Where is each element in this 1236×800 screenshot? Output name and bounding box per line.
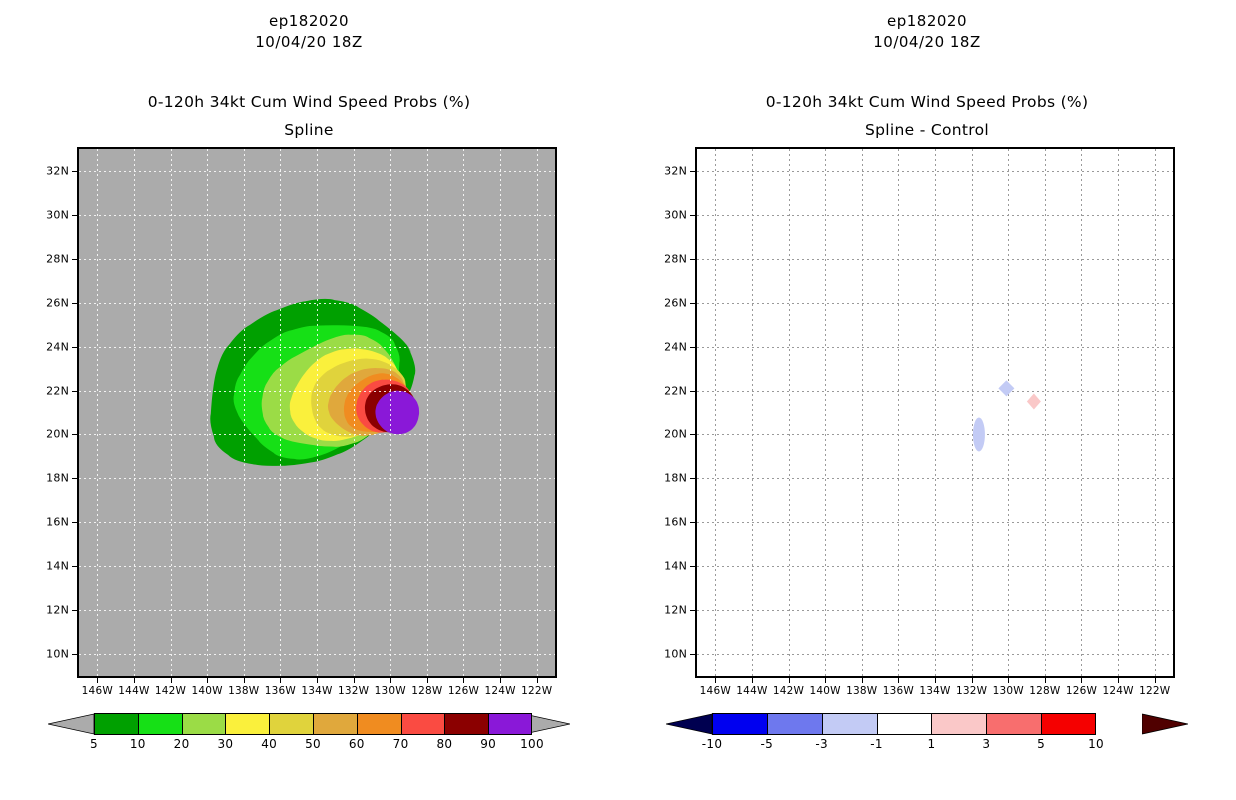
colorbar-under-arrow-right (666, 713, 712, 735)
colorbar-tick-label: 40 (261, 737, 277, 751)
y-axis-label: 30N (46, 208, 69, 221)
x-axis-tick (317, 678, 318, 683)
colorbar-tick-label: 80 (436, 737, 452, 751)
chart-subtitle-left: Spline (0, 121, 618, 139)
colorbar-swatch (712, 713, 767, 735)
x-axis-tick (207, 678, 208, 683)
colorbar-tick-label: 70 (393, 737, 409, 751)
colorbar-swatch (401, 713, 445, 735)
colorbar-swatch (225, 713, 269, 735)
y-axis-label: 18N (664, 472, 687, 485)
colorbar-ticks-difference: -10-5-3-113510 (618, 737, 1236, 757)
map-axes-left: 32N30N28N26N24N22N20N18N16N14N12N10N146W… (77, 147, 557, 678)
chart-subtitle-right: Spline - Control (618, 121, 1236, 139)
colorbar-tick-label: -5 (761, 737, 774, 751)
y-axis-tick (690, 566, 695, 567)
x-axis-tick (715, 678, 716, 683)
colorbar-tick-label: 5 (1037, 737, 1045, 751)
y-axis-label: 30N (664, 208, 687, 221)
y-axis-tick (690, 654, 695, 655)
valid-time-right: 10/04/20 18Z (618, 33, 1236, 51)
colorbar-swatches-probability (94, 713, 532, 735)
y-axis-label: 20N (664, 428, 687, 441)
x-axis-tick (537, 678, 538, 683)
colorbar-swatch (931, 713, 986, 735)
x-axis-tick (825, 678, 826, 683)
x-axis-label: 132W (338, 685, 369, 697)
colorbar-tick-label: 60 (349, 737, 365, 751)
colorbar-under-arrow-left (48, 713, 94, 735)
y-axis-tick (72, 303, 77, 304)
y-axis-tick (690, 171, 695, 172)
colorbar-swatch (357, 713, 401, 735)
x-axis-label: 130W (375, 685, 406, 697)
colorbar-over-arrow-right (1142, 713, 1188, 735)
y-axis-label: 24N (46, 340, 69, 353)
x-axis-tick (427, 678, 428, 683)
valid-time-left: 10/04/20 18Z (0, 33, 618, 51)
x-axis-label: 130W (993, 685, 1024, 697)
y-axis-label: 16N (46, 516, 69, 529)
y-axis-tick (690, 347, 695, 348)
x-axis-tick (1155, 678, 1156, 683)
storm-id-left: ep182020 (0, 12, 618, 30)
x-axis-tick (1045, 678, 1046, 683)
y-axis-label: 32N (46, 164, 69, 177)
colorbar-swatch (822, 713, 877, 735)
x-axis-tick (972, 678, 973, 683)
x-axis-tick (1081, 678, 1082, 683)
x-axis-label: 146W (700, 685, 731, 697)
colorbar-swatch (94, 713, 138, 735)
y-axis-tick (72, 434, 77, 435)
x-axis-tick (134, 678, 135, 683)
y-axis-label: 28N (664, 252, 687, 265)
colorbar-swatch (313, 713, 357, 735)
x-axis-tick (789, 678, 790, 683)
x-axis-tick (862, 678, 863, 683)
colorbar-tick-label: 1 (927, 737, 935, 751)
colorbar-tick-label: 20 (174, 737, 190, 751)
y-axis-tick (72, 171, 77, 172)
y-axis-tick (72, 610, 77, 611)
x-axis-label: 142W (155, 685, 186, 697)
y-axis-tick (72, 566, 77, 567)
colorbar-tick-label: 100 (520, 737, 544, 751)
panel-difference: ep182020 10/04/20 18Z 0-120h 34kt Cum Wi… (618, 0, 1236, 800)
y-axis-label: 28N (46, 252, 69, 265)
x-axis-label: 126W (1066, 685, 1097, 697)
x-axis-label: 128W (1029, 685, 1060, 697)
x-axis-label: 142W (773, 685, 804, 697)
x-axis-tick (752, 678, 753, 683)
colorbar-swatch (986, 713, 1041, 735)
y-axis-tick (690, 478, 695, 479)
x-axis-tick (97, 678, 98, 683)
x-axis-label: 138W (228, 685, 259, 697)
x-axis-label: 122W (1139, 685, 1170, 697)
x-axis-tick (898, 678, 899, 683)
colorbar-swatches-difference (712, 713, 1096, 735)
y-axis-label: 10N (46, 648, 69, 661)
colorbar-swatch (182, 713, 226, 735)
x-axis-tick (171, 678, 172, 683)
x-axis-label: 144W (736, 685, 767, 697)
x-axis-tick (500, 678, 501, 683)
storm-id-right: ep182020 (618, 12, 1236, 30)
x-axis-label: 138W (846, 685, 877, 697)
x-axis-label: 136W (265, 685, 296, 697)
colorbar-swatch (138, 713, 182, 735)
x-axis-label: 140W (192, 685, 223, 697)
colorbar-difference[interactable]: -10-5-3-113510 (618, 713, 1236, 773)
y-axis-label: 16N (664, 516, 687, 529)
y-axis-label: 10N (664, 648, 687, 661)
y-axis-tick (72, 215, 77, 216)
colorbar-swatch (877, 713, 932, 735)
x-axis-label: 128W (411, 685, 442, 697)
y-axis-tick (690, 434, 695, 435)
x-axis-tick (463, 678, 464, 683)
y-axis-label: 22N (664, 384, 687, 397)
y-axis-tick (72, 259, 77, 260)
y-axis-tick (690, 259, 695, 260)
colorbar-tick-label: -10 (702, 737, 723, 751)
y-axis-label: 24N (664, 340, 687, 353)
y-axis-tick (72, 347, 77, 348)
colorbar-swatch (269, 713, 313, 735)
colorbar-tick-label: 5 (90, 737, 98, 751)
y-axis-tick (690, 610, 695, 611)
chart-title-left: 0-120h 34kt Cum Wind Speed Probs (%) (0, 93, 618, 111)
colorbar-swatch (488, 713, 532, 735)
x-axis-tick (1008, 678, 1009, 683)
y-axis-tick (72, 391, 77, 392)
colorbar-tick-label: 90 (480, 737, 496, 751)
y-axis-label: 18N (46, 472, 69, 485)
y-axis-label: 32N (664, 164, 687, 177)
y-axis-tick (690, 522, 695, 523)
colorbar-probability[interactable]: 5102030405060708090100 (0, 713, 618, 773)
y-axis-label: 12N (664, 604, 687, 617)
y-axis-label: 26N (46, 296, 69, 309)
x-axis-label: 140W (810, 685, 841, 697)
panel-spline: ep182020 10/04/20 18Z 0-120h 34kt Cum Wi… (0, 0, 618, 800)
x-axis-tick (1118, 678, 1119, 683)
x-axis-label: 124W (484, 685, 515, 697)
y-axis-tick (72, 522, 77, 523)
y-axis-label: 12N (46, 604, 69, 617)
y-axis-tick (690, 391, 695, 392)
x-axis-label: 126W (448, 685, 479, 697)
chart-title-right: 0-120h 34kt Cum Wind Speed Probs (%) (618, 93, 1236, 111)
y-axis-tick (690, 303, 695, 304)
x-axis-label: 146W (82, 685, 113, 697)
y-axis-label: 22N (46, 384, 69, 397)
x-axis-tick (354, 678, 355, 683)
y-axis-tick (690, 215, 695, 216)
y-axis-label: 20N (46, 428, 69, 441)
x-axis-tick (935, 678, 936, 683)
y-axis-tick (72, 654, 77, 655)
colorbar-swatch (444, 713, 488, 735)
colorbar-tick-label: 10 (130, 737, 146, 751)
x-axis-label: 122W (521, 685, 552, 697)
x-axis-tick (244, 678, 245, 683)
y-axis-label: 14N (46, 560, 69, 573)
colorbar-tick-label: -1 (870, 737, 883, 751)
colorbar-tick-label: 10 (1088, 737, 1104, 751)
colorbar-tick-label: -3 (815, 737, 828, 751)
colorbar-swatch (767, 713, 822, 735)
x-axis-label: 136W (883, 685, 914, 697)
x-axis-tick (390, 678, 391, 683)
colorbar-swatch (1041, 713, 1096, 735)
colorbar-tick-label: 3 (982, 737, 990, 751)
colorbar-ticks-probability: 5102030405060708090100 (0, 737, 618, 757)
x-axis-label: 124W (1102, 685, 1133, 697)
x-axis-label: 134W (919, 685, 950, 697)
y-axis-label: 14N (664, 560, 687, 573)
colorbar-tick-label: 50 (305, 737, 321, 751)
y-axis-tick (72, 478, 77, 479)
x-axis-label: 132W (956, 685, 987, 697)
x-axis-tick (280, 678, 281, 683)
colorbar-tick-label: 30 (217, 737, 233, 751)
x-axis-label: 144W (118, 685, 149, 697)
x-axis-label: 134W (301, 685, 332, 697)
y-axis-label: 26N (664, 296, 687, 309)
map-axes-right: 32N30N28N26N24N22N20N18N16N14N12N10N146W… (695, 147, 1175, 678)
